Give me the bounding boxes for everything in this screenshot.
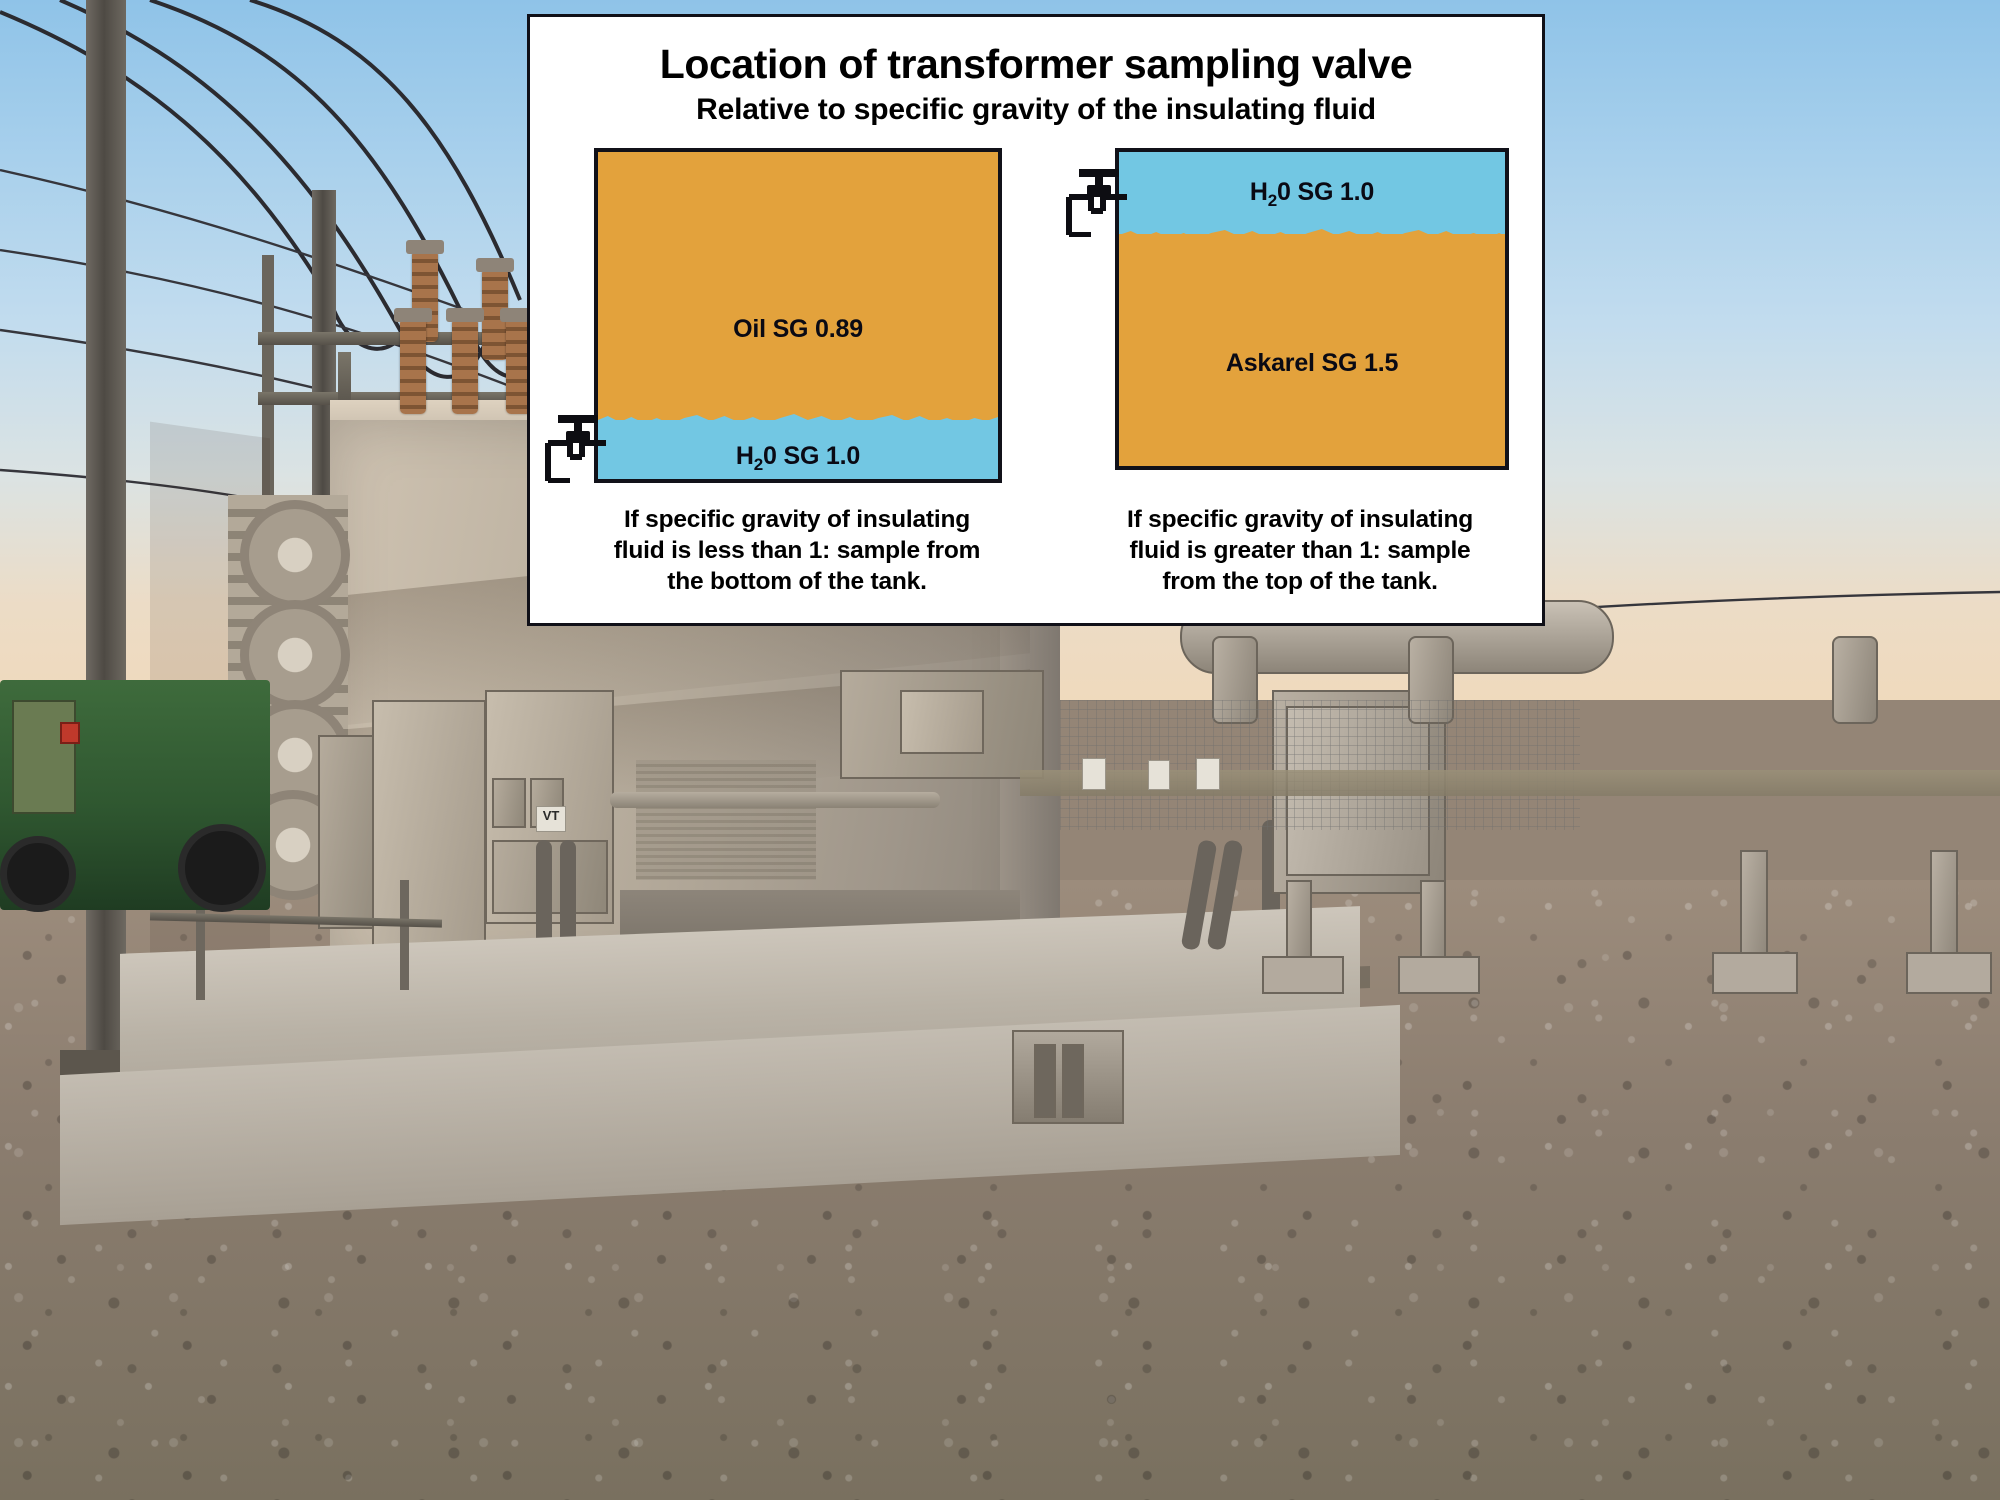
transformer-vent-grille [636,760,816,880]
caption-low-sg-line1: If specific gravity of insulating [582,504,1012,535]
equipment-nameplate-vt: VT [536,806,566,832]
sampling-valve-bottom[interactable] [544,413,606,483]
caption-high-sg-line2: fluid is greater than 1: sample [1078,535,1522,566]
truck-light [60,722,80,744]
warning-sign-3 [1196,758,1220,790]
truck-body-panel [12,700,76,814]
transformer-bushing-cap-1 [394,308,432,322]
tank-high-sg-interface [1119,220,1505,246]
tank-high-sg-oil-label: Askarel SG 1.5 [1119,349,1505,378]
tank-high-sg: H20 SG 1.0 Askarel SG 1.5 [1115,148,1509,470]
tank-low-sg-water-label-pre: H [736,442,754,470]
sampling-valve-top[interactable] [1065,167,1127,237]
structure-footing-4 [1906,952,1992,994]
transformer-bushing-1 [400,318,426,414]
truck-tire-2 [178,824,266,912]
tank-high-sg-water-label-pre: H [1250,178,1268,206]
tank-low-sg-water-label-sub: 2 [754,455,763,474]
caption-high-sg-line3: from the top of the tank. [1078,566,1522,597]
transformer-bushing-2 [452,318,478,414]
tank-low-sg-oil-label: Oil SG 0.89 [598,315,998,344]
perimeter-fence [1060,700,1580,830]
caption-high-sg-line1: If specific gravity of insulating [1078,504,1522,535]
diagram-overlay-panel: Location of transformer sampling valve R… [527,14,1545,626]
truck-tire-1 [0,836,76,912]
tank-low-sg-water-label-post: 0 SG 1.0 [763,442,860,470]
caption-high-sg: If specific gravity of insulating fluid … [1078,504,1522,597]
tank-high-sg-oil-label-text: Askarel SG 1.5 [1226,349,1398,377]
caption-low-sg-line3: the bottom of the tank. [582,566,1012,597]
structure-footing-3 [1712,952,1798,994]
tank-low-sg: Oil SG 0.89 H20 SG 1.0 [594,148,1002,483]
diagram-figures: Oil SG 0.89 H20 SG 1.0 If specific gravi… [530,17,1548,629]
warning-sign-2 [1148,760,1170,790]
junction-box-lower [900,690,984,754]
sump-pipe-2 [1062,1044,1084,1118]
caption-low-sg-line2: fluid is less than 1: sample from [582,535,1012,566]
warning-sign-1 [1082,758,1106,790]
cooling-fan-1 [240,500,350,610]
transformer-bushing-cap-2 [446,308,484,322]
tank-high-sg-water-label: H20 SG 1.0 [1119,178,1505,207]
breaker-bushing-3 [1832,636,1878,724]
tank-low-sg-oil-label-text: Oil SG 0.89 [733,315,863,343]
sump-pipe-1 [1034,1044,1056,1118]
structure-footing-1 [1262,956,1344,994]
tank-high-sg-water-label-post: 0 SG 1.0 [1277,178,1374,206]
tank-low-sg-interface [598,406,998,432]
insulator-cap-2 [476,258,514,272]
oil-pipe-horizontal [610,792,940,808]
insulator-cap-1 [406,240,444,254]
tank-low-sg-oil-layer [598,152,998,420]
tank-high-sg-water-label-sub: 2 [1268,191,1277,210]
handrail-post-2 [400,880,409,990]
structure-footing-2 [1398,956,1480,994]
tank-low-sg-water-label: H20 SG 1.0 [598,442,998,471]
control-cabinet-small [372,700,486,954]
terminal-box-1 [492,778,526,828]
caption-low-sg: If specific gravity of insulating fluid … [582,504,1012,597]
